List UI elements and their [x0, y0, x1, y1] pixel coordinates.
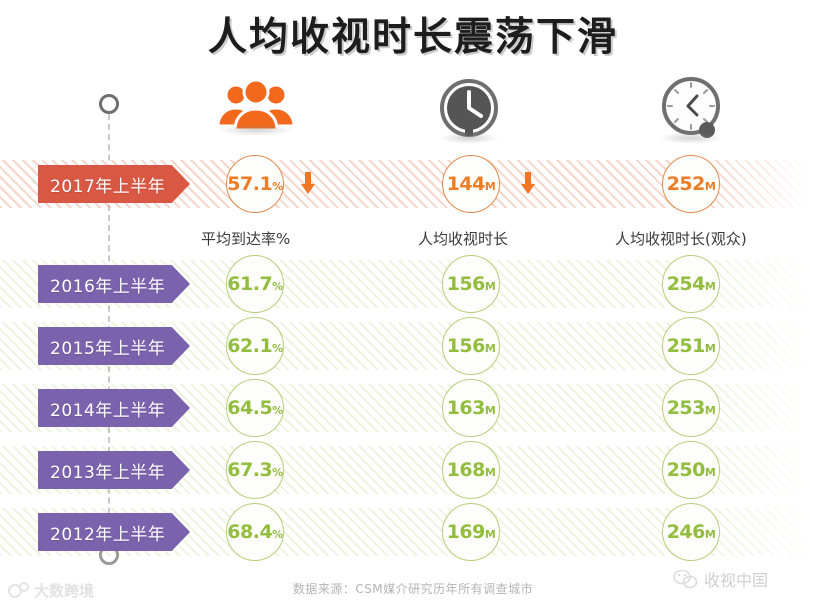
value-bubble-duration-all[interactable]: 156M	[442, 255, 500, 313]
value-text: 252M	[667, 175, 716, 194]
value-text: 68.4%	[227, 523, 282, 542]
people-group-icon	[210, 78, 302, 134]
wechat-icon	[672, 568, 698, 590]
value-bubble-reach[interactable]: 62.1%	[226, 317, 284, 375]
value-unit: M	[705, 342, 715, 355]
value-unit: %	[272, 180, 283, 193]
value-text: 64.5%	[227, 399, 282, 418]
column-label-duration-viewers: 人均收视时长(观众)	[615, 228, 747, 249]
value-text: 250M	[667, 461, 716, 480]
year-label-tag[interactable]: 2017年上半年	[38, 165, 190, 203]
value-text: 168M	[447, 461, 496, 480]
clock-solid-icon	[437, 78, 501, 142]
value-text: 251M	[667, 337, 716, 356]
value-bubble-duration-all[interactable]: 163M	[442, 379, 500, 437]
value-text: 253M	[667, 399, 716, 418]
value-unit: M	[485, 342, 495, 355]
value-text: 62.1%	[227, 337, 282, 356]
year-label-tag[interactable]: 2014年上半年	[38, 389, 190, 427]
data-row: 2013年上半年67.3%168M250M	[0, 446, 826, 494]
year-label-tag[interactable]: 2015年上半年	[38, 327, 190, 365]
value-text: 57.1%	[227, 175, 282, 194]
year-label-tag[interactable]: 2013年上半年	[38, 451, 190, 489]
value-unit: M	[485, 528, 495, 541]
infographic-canvas: 人均收视时长震荡下滑	[0, 0, 826, 614]
value-text: 156M	[447, 337, 496, 356]
value-bubble-reach[interactable]: 61.7%	[226, 255, 284, 313]
column-label-duration-all: 人均收视时长	[418, 228, 508, 249]
value-bubble-duration-viewers[interactable]: 246M	[662, 503, 720, 561]
down-arrow-icon	[520, 172, 536, 196]
data-row: 2015年上半年62.1%156M251M	[0, 322, 826, 370]
value-unit: M	[485, 404, 495, 417]
value-unit: M	[705, 404, 715, 417]
value-bubble-duration-viewers[interactable]: 251M	[662, 317, 720, 375]
value-bubble-reach[interactable]: 57.1%	[226, 155, 284, 213]
value-bubble-reach[interactable]: 67.3%	[226, 441, 284, 499]
value-unit: M	[705, 466, 715, 479]
value-text: 163M	[447, 399, 496, 418]
timeline-start-dot-icon	[99, 94, 119, 114]
value-bubble-duration-all[interactable]: 156M	[442, 317, 500, 375]
value-bubble-duration-all[interactable]: 168M	[442, 441, 500, 499]
value-text: 61.7%	[227, 275, 282, 294]
page-title: 人均收视时长震荡下滑	[0, 6, 826, 62]
value-text: 169M	[447, 523, 496, 542]
value-unit: %	[272, 280, 283, 293]
data-row: 2017年上半年57.1%144M252M	[0, 160, 826, 208]
watermark-right: 收视中国	[672, 567, 768, 591]
value-bubble-duration-viewers[interactable]: 253M	[662, 379, 720, 437]
column-label-reach: 平均到达率%	[201, 228, 290, 249]
year-label-tag[interactable]: 2012年上半年	[38, 513, 190, 551]
value-unit: M	[485, 280, 495, 293]
value-text: 254M	[667, 275, 716, 294]
data-row: 2016年上半年61.7%156M254M	[0, 260, 826, 308]
value-unit: M	[705, 528, 715, 541]
clock-outline-icon	[657, 74, 725, 142]
value-unit: M	[705, 180, 715, 193]
watermark-left-label: 大数跨境	[34, 580, 94, 601]
down-arrow-icon	[300, 172, 316, 196]
value-unit: %	[272, 342, 283, 355]
value-unit: %	[272, 528, 283, 541]
value-text: 156M	[447, 275, 496, 294]
value-unit: M	[485, 466, 495, 479]
value-text: 144M	[447, 175, 496, 194]
value-unit: %	[272, 404, 283, 417]
value-text: 246M	[667, 523, 716, 542]
value-unit: %	[272, 466, 283, 479]
watermark-right-label: 收视中国	[704, 567, 768, 591]
value-unit: M	[485, 180, 495, 193]
year-label-tag[interactable]: 2016年上半年	[38, 265, 190, 303]
data-row: 2014年上半年64.5%163M253M	[0, 384, 826, 432]
value-bubble-duration-all[interactable]: 144M	[442, 155, 500, 213]
value-unit: M	[705, 280, 715, 293]
value-bubble-duration-viewers[interactable]: 250M	[662, 441, 720, 499]
value-bubble-duration-viewers[interactable]: 254M	[662, 255, 720, 313]
value-text: 67.3%	[227, 461, 282, 480]
value-bubble-reach[interactable]: 68.4%	[226, 503, 284, 561]
brand-mark-icon	[8, 582, 30, 600]
value-bubble-reach[interactable]: 64.5%	[226, 379, 284, 437]
value-bubble-duration-all[interactable]: 169M	[442, 503, 500, 561]
watermark-left: 大数跨境	[8, 580, 94, 601]
data-row: 2012年上半年68.4%169M246M	[0, 508, 826, 556]
value-bubble-duration-viewers[interactable]: 252M	[662, 155, 720, 213]
